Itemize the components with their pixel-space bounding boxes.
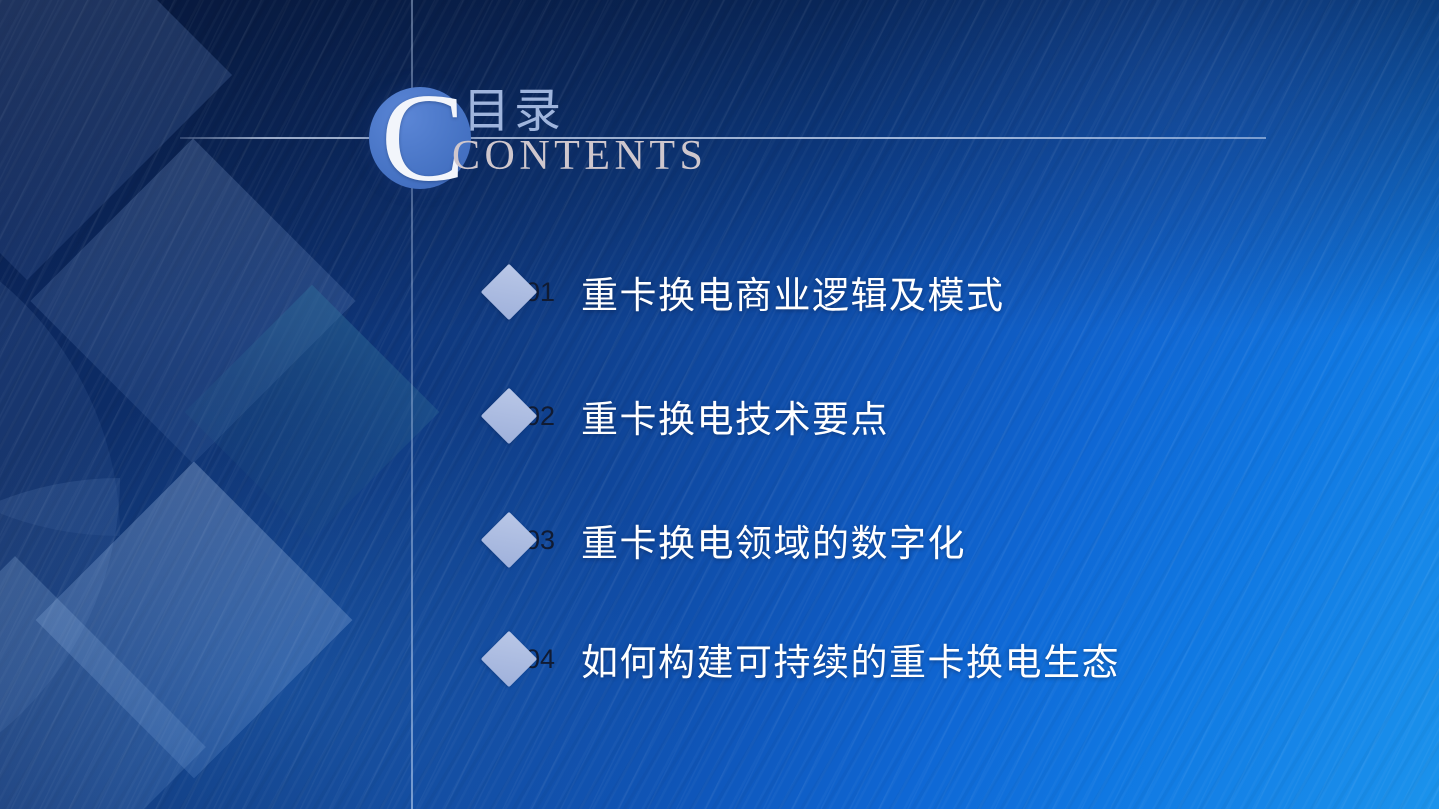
contents-item-label: 如何构建可持续的重卡换电生态	[581, 632, 1120, 686]
contents-item-label: 重卡换电领域的数字化	[581, 513, 966, 567]
contents-item-label: 重卡换电商业逻辑及模式	[581, 265, 1005, 319]
contents-item-label: 重卡换电技术要点	[581, 389, 889, 443]
diamond-bullet-icon	[481, 388, 538, 445]
diamond-bullet-icon	[481, 512, 538, 569]
contents-item-02[interactable]: 02 重卡换电技术要点	[489, 389, 889, 443]
contents-list: 01 重卡换电商业逻辑及模式 02 重卡换电技术要点 03 重卡换电领域的数字化…	[0, 0, 1439, 809]
contents-item-01[interactable]: 01 重卡换电商业逻辑及模式	[489, 265, 1005, 319]
contents-item-03[interactable]: 03 重卡换电领域的数字化	[489, 513, 966, 567]
contents-item-04[interactable]: 04 如何构建可持续的重卡换电生态	[489, 632, 1120, 686]
presentation-slide: C 目录 CONTENTS 01 重卡换电商业逻辑及模式 02 重卡换电技术要点…	[0, 0, 1439, 809]
diamond-bullet-icon	[481, 264, 538, 321]
diamond-bullet-icon	[481, 631, 538, 688]
